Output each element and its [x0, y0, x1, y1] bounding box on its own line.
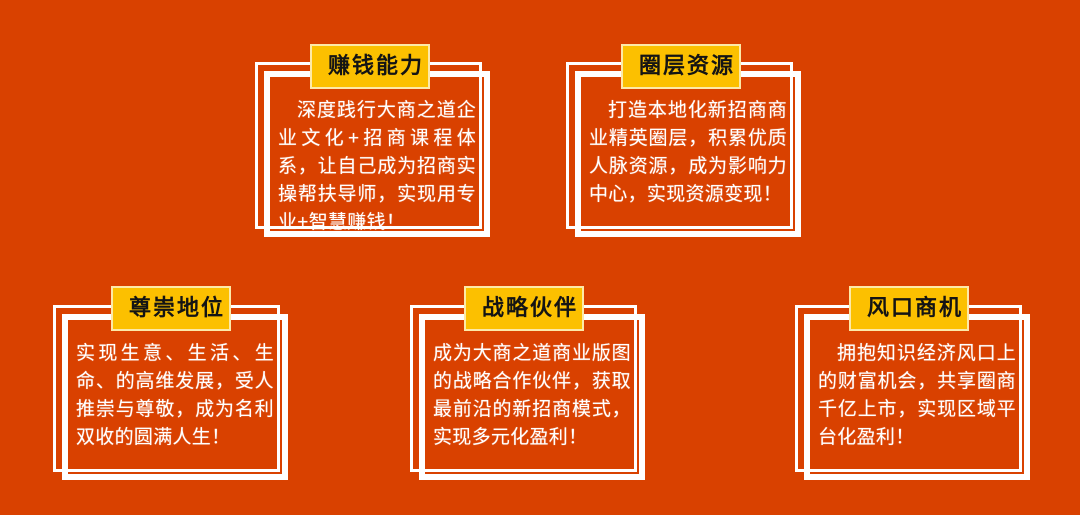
card-title-badge[interactable]: 赚钱能力	[310, 44, 430, 89]
infographic-canvas: 深度践行大商之道企业文化+招商课程体系，让自己成为招商实操帮扶导师，实现用专业+…	[0, 0, 1080, 515]
card-strategic-partner[interactable]: 成为大商之道商业版图的战略合作伙伴，获取最前沿的新招商模式，实现多元化盈利！	[410, 305, 645, 480]
card-title-badge[interactable]: 尊崇地位	[111, 286, 231, 331]
card-title-badge[interactable]: 战略伙伴	[464, 286, 584, 331]
card-title-badge[interactable]: 圈层资源	[621, 44, 741, 89]
card-body-text: 成为大商之道商业版图的战略合作伙伴，获取最前沿的新招商模式，实现多元化盈利！	[419, 314, 645, 480]
card-body-text: 拥抱知识经济风口上的财富机会，共享圈商千亿上市，实现区域平台化盈利！	[804, 314, 1030, 480]
card-esteemed-status[interactable]: 实现生意、生活、生命、的高维发展，受人推崇与尊敬，成为名利双收的圆满人生！	[53, 305, 288, 480]
card-body-text: 实现生意、生活、生命、的高维发展，受人推崇与尊敬，成为名利双收的圆满人生！	[62, 314, 288, 480]
card-title-badge[interactable]: 风口商机	[849, 286, 969, 331]
card-body-text: 深度践行大商之道企业文化+招商课程体系，让自己成为招商实操帮扶导师，实现用专业+…	[264, 71, 490, 237]
card-market-opportunity[interactable]: 拥抱知识经济风口上的财富机会，共享圈商千亿上市，实现区域平台化盈利！	[795, 305, 1030, 480]
card-body-text: 打造本地化新招商商业精英圈层，积累优质人脉资源，成为影响力中心，实现资源变现！	[575, 71, 801, 237]
